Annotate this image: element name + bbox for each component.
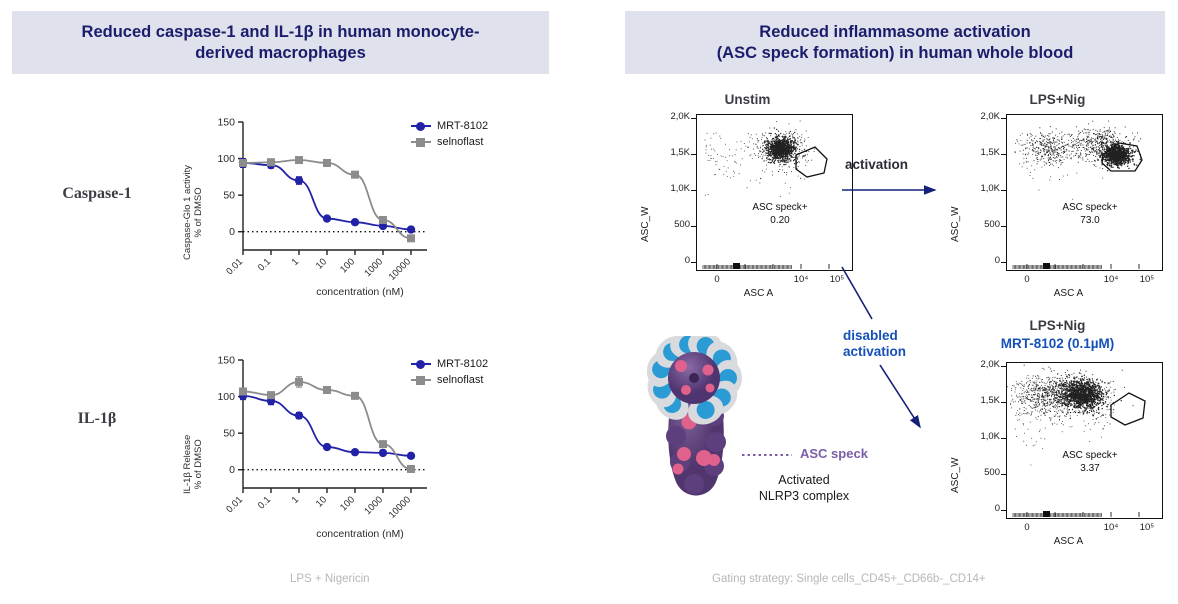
flow-unstim-ytick-mark	[691, 118, 696, 119]
chart-il1b: IL-1β Release% of DMSO 0501001500.010.11…	[175, 346, 545, 541]
flow-unstim-xtick: 10⁴	[788, 274, 814, 285]
activation-arrow-label: activation	[845, 157, 908, 172]
legend-swatch-square	[411, 379, 431, 381]
flow-lpsnig-title: LPS+Nig	[950, 92, 1165, 107]
svg-text:10: 10	[314, 494, 329, 509]
flow-mrt-title: LPS+Nig	[950, 318, 1165, 333]
svg-text:100: 100	[338, 256, 357, 275]
asc-speck-label: ASC speck	[800, 446, 868, 461]
legend-item-selnoflast: selnoflast	[411, 134, 488, 150]
svg-text:100: 100	[338, 494, 357, 513]
svg-text:1: 1	[290, 494, 302, 506]
flow-lpsnig-xlabel: ASC A	[976, 288, 1161, 299]
disabled-activation-arrow-icon	[820, 265, 950, 445]
flow-mrt-plot	[1006, 362, 1163, 519]
svg-text:100: 100	[217, 153, 235, 165]
asc-speck-leader-line	[742, 452, 794, 458]
svg-text:1: 1	[290, 256, 302, 268]
svg-text:0.1: 0.1	[256, 494, 273, 511]
legend-marker	[416, 376, 425, 385]
flow-lps-nig-ytick: 0	[960, 255, 1000, 266]
legend-item-mrt-8102: MRT-8102	[411, 356, 488, 372]
right-header-line2: (ASC speck formation) in human whole blo…	[717, 44, 1074, 62]
flow-lps-nig-mrt-ytick-mark	[1001, 366, 1006, 367]
flow-lpsnig-gate-label: ASC speck+73.0	[1035, 202, 1145, 227]
nlrp3-complex-label: ActivatedNLRP3 complex	[734, 472, 874, 505]
flow-lps-nig-mrt-xtick: 10⁵	[1134, 522, 1160, 533]
flow-lps-nig-mrt-ytick: 1,0K	[960, 431, 1000, 442]
chart-il1b-xlabel: concentration (nM)	[175, 528, 545, 540]
legend-marker	[416, 138, 425, 147]
footnote-left: LPS + Nigericin	[290, 573, 370, 585]
flow-lps-nig-mrt-xtick: 0	[1014, 522, 1040, 533]
flow-unstim-ytick-mark	[691, 190, 696, 191]
chart-caspase1: Caspase-Glo 1 activity% of DMSO 05010015…	[175, 108, 545, 298]
chart-il1b-legend: MRT-8102selnoflast	[411, 356, 488, 388]
svg-text:150: 150	[217, 355, 235, 367]
flow-lps-nig-ytick-mark	[1001, 262, 1006, 263]
flow-panel-lps-nig-mrt8102: LPS+Nig MRT-8102 (0.1µM) ASC_W ASC A ASC…	[950, 318, 1165, 558]
flow-lps-nig-ytick-mark	[1001, 226, 1006, 227]
flow-unstim-ytick-mark	[691, 154, 696, 155]
svg-text:0: 0	[229, 226, 235, 238]
flow-lps-nig-mrt-ytick: 0	[960, 503, 1000, 514]
footnote-right: Gating strategy: Single cells_CD45+_CD66…	[712, 573, 986, 585]
flow-lps-nig-mrt-ytick-mark	[1001, 438, 1006, 439]
flow-lps-nig-mrt-xtick: 10⁴	[1098, 522, 1124, 533]
svg-text:50: 50	[223, 428, 235, 440]
right-section-header: Reduced inflammasome activation (ASC spe…	[625, 11, 1165, 74]
flow-lps-nig-mrt-ytick-mark	[1001, 402, 1006, 403]
chart-caspase1-xlabel: concentration (nM)	[175, 286, 545, 298]
flow-lps-nig-ytick-mark	[1001, 190, 1006, 191]
svg-text:10000: 10000	[387, 494, 413, 520]
flow-lps-nig-mrt-ytick-mark	[1001, 510, 1006, 511]
svg-text:1000: 1000	[362, 256, 385, 279]
legend-label: selnoflast	[437, 374, 483, 386]
flow-lps-nig-mrt-ytick: 1,5K	[960, 395, 1000, 406]
svg-text:100: 100	[217, 391, 235, 403]
svg-text:50: 50	[223, 190, 235, 202]
legend-swatch-square	[411, 141, 431, 143]
flow-unstim-ytick: 1,0K	[650, 183, 690, 194]
chart-il1b-plot: 0501001500.010.1110100100010000	[175, 346, 545, 541]
flow-lps-nig-ytick: 2,0K	[960, 111, 1000, 122]
flow-unstim-ytick: 1,5K	[650, 147, 690, 158]
svg-text:10: 10	[314, 256, 329, 271]
row-label-caspase-1: Caspase-1	[22, 185, 172, 203]
right-header-line1: Reduced inflammasome activation	[759, 23, 1030, 41]
flow-mrt-gate-label: ASC speck+3.37	[1035, 450, 1145, 475]
flow-unstim-gate-label: ASC speck+0.20	[725, 202, 835, 227]
flow-lps-nig-xtick: 10⁵	[1134, 274, 1160, 285]
flow-lps-nig-mrt-ytick: 500	[960, 467, 1000, 478]
svg-text:1000: 1000	[362, 494, 385, 517]
left-header-line2: derived macrophages	[195, 44, 366, 62]
flow-lps-nig-mrt-ytick-mark	[1001, 474, 1006, 475]
flow-unstim-ytick-mark	[691, 226, 696, 227]
left-header-line1: Reduced caspase-1 and IL-1β in human mon…	[82, 23, 480, 41]
flow-lps-nig-ytick-mark	[1001, 154, 1006, 155]
svg-text:0: 0	[229, 464, 235, 476]
flow-lps-nig-ytick: 1,0K	[960, 183, 1000, 194]
legend-marker	[416, 122, 425, 131]
flow-unstim-title: Unstim	[640, 92, 855, 107]
flow-lpsnig-plot	[1006, 114, 1163, 271]
flow-unstim-ytick-mark	[691, 262, 696, 263]
flow-lps-nig-xtick: 0	[1014, 274, 1040, 285]
flow-lps-nig-ytick: 500	[960, 219, 1000, 230]
chart-caspase1-legend: MRT-8102selnoflast	[411, 118, 488, 150]
flow-unstim-ytick: 0	[650, 255, 690, 266]
legend-label: selnoflast	[437, 136, 483, 148]
left-section-header: Reduced caspase-1 and IL-1β in human mon…	[12, 11, 549, 74]
flow-mrt-subtitle: MRT-8102 (0.1µM)	[950, 336, 1165, 351]
flow-panel-lps-nig: LPS+Nig ASC_W ASC A ASC speck+73.0 2,0K1…	[950, 92, 1165, 307]
flow-lps-nig-mrt-ytick: 2,0K	[960, 359, 1000, 370]
svg-text:150: 150	[217, 117, 235, 129]
chart-caspase1-plot: 0501001500.010.1110100100010000	[175, 108, 545, 298]
svg-text:10000: 10000	[387, 256, 413, 282]
flow-lps-nig-ytick-mark	[1001, 118, 1006, 119]
legend-swatch-circle	[411, 125, 431, 127]
svg-text:0.01: 0.01	[224, 256, 245, 277]
legend-marker	[416, 360, 425, 369]
legend-label: MRT-8102	[437, 358, 488, 370]
svg-text:0.1: 0.1	[256, 256, 273, 273]
flow-lps-nig-ytick: 1,5K	[960, 147, 1000, 158]
legend-item-selnoflast: selnoflast	[411, 372, 488, 388]
legend-item-mrt-8102: MRT-8102	[411, 118, 488, 134]
svg-text:0.01: 0.01	[224, 494, 245, 515]
flow-unstim-ytick: 500	[650, 219, 690, 230]
flow-mrt-xlabel: ASC A	[976, 536, 1161, 547]
flow-unstim-ytick: 2,0K	[650, 111, 690, 122]
activation-arrow-icon	[840, 182, 950, 204]
flow-lps-nig-xtick: 10⁴	[1098, 274, 1124, 285]
flow-unstim-plot	[696, 114, 853, 271]
flow-unstim-xtick: 0	[704, 274, 730, 285]
row-label-il-1b: IL-1β	[22, 410, 172, 428]
legend-label: MRT-8102	[437, 120, 488, 132]
legend-swatch-circle	[411, 363, 431, 365]
